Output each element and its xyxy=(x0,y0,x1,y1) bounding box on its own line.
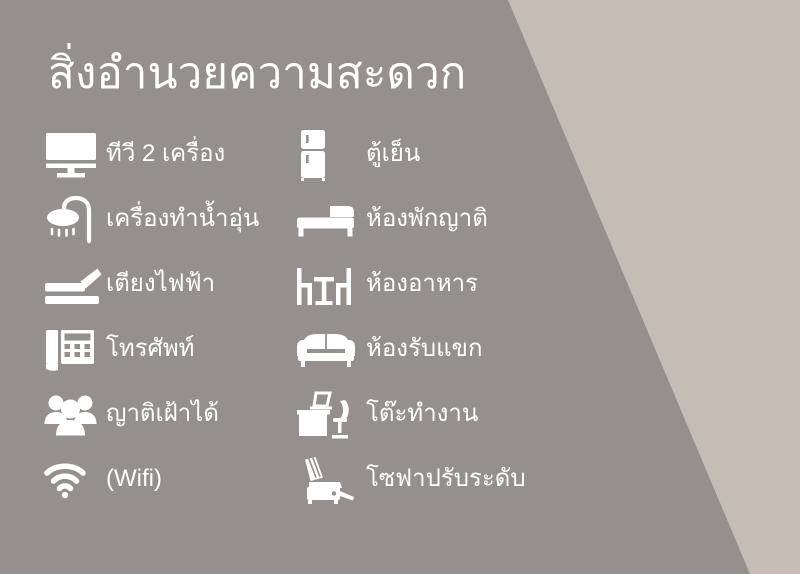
amenity-item-electric-bed: เตียงไฟฟ้า xyxy=(44,252,294,317)
amenity-label: (Wifi) xyxy=(106,462,162,498)
amenity-item-living-room: ห้องรับแขก xyxy=(296,317,546,382)
television-icon xyxy=(44,127,106,183)
amenity-label: ตู้เย็น xyxy=(366,137,420,173)
amenity-item-wifi: (Wifi) xyxy=(44,447,294,512)
amenity-label: เตียงไฟฟ้า xyxy=(106,267,215,303)
amenity-item-telephone: โทรศัพท์ xyxy=(44,317,294,382)
amenities-poster: สิ่งอำนวยความสะดวก ทีวี 2 เครื่อง xyxy=(0,0,800,574)
amenity-label: โทรศัพท์ xyxy=(106,332,194,368)
recliner-icon xyxy=(296,452,366,508)
electric-bed-icon xyxy=(44,257,106,313)
amenity-item-dining-room: ห้องอาหาร xyxy=(296,252,546,317)
amenity-label: ทีวี 2 เครื่อง xyxy=(106,137,225,173)
amenity-label: ห้องรับแขก xyxy=(366,332,482,368)
refrigerator-icon xyxy=(296,127,366,183)
telephone-icon xyxy=(44,322,106,378)
bed-icon xyxy=(296,192,366,248)
amenity-item-work-desk: โต๊ะทำงาน xyxy=(296,382,546,447)
amenity-item-relatives-allowed: ญาติเฝ้าได้ xyxy=(44,382,294,447)
amenity-label: ญาติเฝ้าได้ xyxy=(106,397,219,433)
desk-chair-icon xyxy=(296,387,366,443)
sofa-icon xyxy=(296,322,366,378)
amenity-label: ห้องอาหาร xyxy=(366,267,478,303)
amenities-column-left: ทีวี 2 เครื่อง เครื่องทำน้ำอุ่น xyxy=(44,122,294,512)
amenity-item-refrigerator: ตู้เย็น xyxy=(296,122,546,187)
shower-icon xyxy=(44,192,106,248)
amenity-label: เครื่องทำน้ำอุ่น xyxy=(106,202,259,238)
amenity-item-relatives-room: ห้องพักญาติ xyxy=(296,187,546,252)
people-group-icon xyxy=(44,387,106,443)
amenity-label: โต๊ะทำงาน xyxy=(366,397,478,433)
wifi-icon xyxy=(44,452,106,508)
amenity-item-recliner-sofa: โซฟาปรับระดับ xyxy=(296,447,546,512)
amenity-item-television: ทีวี 2 เครื่อง xyxy=(44,122,294,187)
amenity-label: ห้องพักญาติ xyxy=(366,202,488,238)
dining-table-icon xyxy=(296,257,366,313)
amenity-item-water-heater: เครื่องทำน้ำอุ่น xyxy=(44,187,294,252)
amenities-column-right: ตู้เย็น ห้องพักญาติ xyxy=(296,122,546,512)
amenity-label: โซฟาปรับระดับ xyxy=(366,462,526,498)
page-title: สิ่งอำนวยความสะดวก xyxy=(48,42,518,106)
